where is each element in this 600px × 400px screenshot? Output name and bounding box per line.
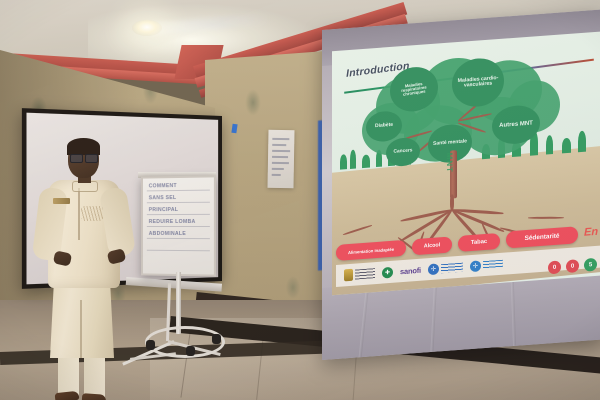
flipchart-line: ABDOMINALE	[149, 231, 210, 237]
ministry-logo	[344, 267, 375, 281]
caster	[146, 340, 155, 350]
robe-lower	[50, 280, 114, 358]
who-logo: ✢	[470, 258, 503, 271]
wall-note	[267, 130, 294, 188]
flipchart: COMMENT SANS SEL PRINCIPAL REDUIRE LOMBA…	[141, 175, 216, 276]
sanofi-logo: sanofi	[400, 265, 421, 276]
presenter	[28, 140, 138, 390]
bubble-cancers: Cancers	[386, 137, 420, 167]
hand-right	[107, 248, 127, 265]
trunk-label: MNT	[445, 152, 454, 173]
flipchart-stem	[176, 272, 181, 334]
name-badge	[53, 198, 70, 204]
flipchart-line: PRINCIPAL	[149, 207, 210, 213]
shoe	[82, 393, 107, 400]
flipchart-line: SANS SEL	[149, 195, 210, 202]
caster	[212, 334, 221, 344]
hair	[67, 138, 100, 155]
embroidery	[81, 206, 103, 221]
glasses-icon	[70, 154, 97, 161]
slide-content: Introduction	[332, 32, 600, 296]
room-photo: COMMENT SANS SEL PRINCIPAL REDUIRE LOMBA…	[0, 0, 600, 400]
trunk-label-wrap: MNT	[444, 150, 462, 197]
caster	[186, 346, 195, 356]
flipchart-line: REDUIRE LOMBA	[149, 219, 210, 225]
projection-cloth: Introduction	[322, 9, 600, 360]
shoe	[55, 391, 80, 400]
edge-text: En	[584, 226, 598, 239]
health-logo: ✚	[382, 266, 393, 278]
pill-alcool: Alcool	[412, 236, 452, 255]
flipchart-line: COMMENT	[149, 183, 210, 190]
pill-tabac: Tabac	[458, 233, 500, 252]
alliance-logo: ✢	[428, 261, 463, 275]
sanofi-logo-text: sanofi	[400, 265, 421, 276]
